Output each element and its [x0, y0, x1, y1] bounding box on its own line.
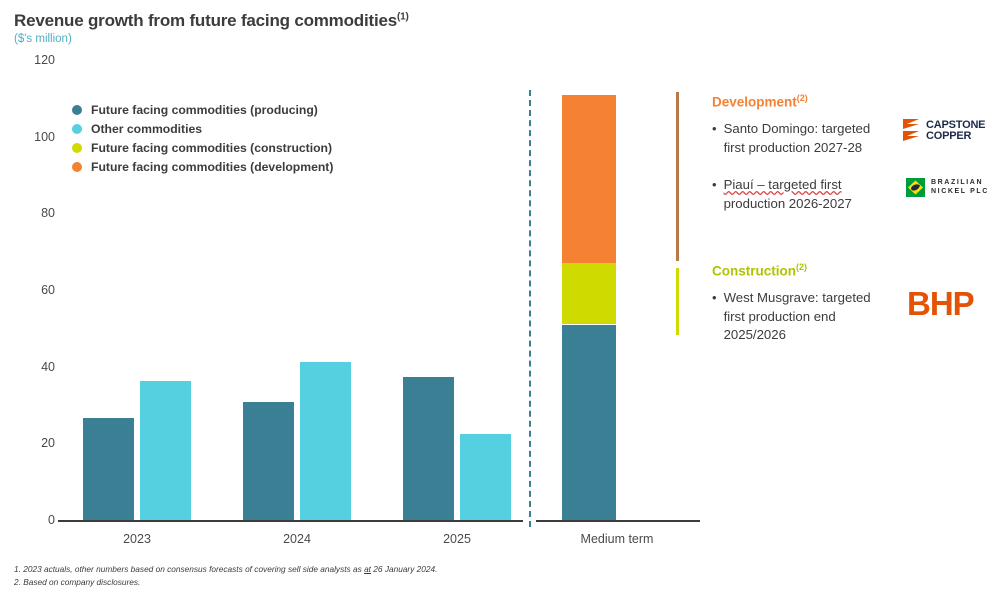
legend-item-other: Other commodities: [72, 119, 333, 138]
x-axis-left: [58, 520, 523, 522]
bullet-line-1: Santo Domingo: targeted: [724, 121, 871, 136]
x-tick-2024: 2024: [283, 532, 311, 546]
bullet-santo-domingo-text: Santo Domingo: targeted first production…: [724, 120, 871, 157]
capstone-copper-logo: CAPSTONE COPPER: [901, 118, 985, 144]
bullet-west-musgrave-text: West Musgrave: targeted first production…: [724, 289, 871, 345]
legend-label-other: Other commodities: [91, 122, 202, 136]
bullet-piaui-text: Piauí – targeted first production 2026-2…: [724, 176, 852, 213]
section-heading-development-footnote-ref: (2): [797, 93, 808, 103]
bullet-dot-icon: •: [712, 289, 717, 345]
section-heading-construction-text: Construction: [712, 264, 796, 279]
bar-medium-development: [562, 95, 616, 264]
y-tick-100: 100: [15, 130, 55, 144]
section-heading-development: Development(2): [712, 93, 808, 110]
page-title-footnote-ref: (1): [397, 11, 409, 22]
page-title-text: Revenue growth from future facing commod…: [14, 11, 397, 30]
bullet-line-2: first production 2027-28: [724, 140, 863, 155]
legend-label-construction: Future facing commodities (construction): [91, 141, 332, 155]
bullet-line-1: Piauí – targeted first: [724, 177, 842, 192]
bullet-line-2: first production end: [724, 309, 836, 324]
capstone-logo-line-2: COPPER: [926, 131, 985, 142]
footnote-2-pre: 2. Based on company disclosures.: [14, 577, 140, 587]
bhp-logo: BHP: [907, 285, 974, 323]
bullet-line-2: production 2026-2027: [724, 196, 852, 211]
brazilian-nickel-logo-line-1: BRAZILIAN: [931, 179, 989, 187]
bar-2025-other: [460, 434, 511, 520]
bar-2025-producing: [403, 377, 454, 520]
brazilian-nickel-logo: BRAZILIAN NICKEL PLC: [906, 178, 989, 197]
y-tick-120: 120: [15, 53, 55, 67]
legend-item-construction: Future facing commodities (construction): [72, 138, 333, 157]
y-tick-80: 80: [15, 206, 55, 220]
bullet-line-3: 2025/2026: [724, 327, 786, 342]
chart-units-subtitle: ($'s million): [14, 33, 72, 45]
bar-2023-producing: [83, 418, 134, 520]
section-heading-development-text: Development: [712, 95, 797, 110]
legend-label-producing: Future facing commodities (producing): [91, 103, 318, 117]
footnote-1: 1. 2023 actuals, other numbers based on …: [14, 563, 437, 576]
legend-dot-icon: [72, 143, 82, 153]
footnote-1-pre: 1. 2023 actuals, other numbers based on …: [14, 564, 364, 574]
footnote-1-underlined: at: [364, 564, 371, 574]
bullet-santo-domingo: • Santo Domingo: targeted first producti…: [712, 120, 912, 157]
bullet-dot-icon: •: [712, 120, 717, 157]
slide-root: Revenue growth from future facing commod…: [0, 0, 993, 590]
x-tick-2023: 2023: [123, 532, 151, 546]
bar-2024-producing: [243, 402, 294, 520]
bar-2023-other: [140, 381, 191, 521]
page-title: Revenue growth from future facing commod…: [14, 11, 409, 31]
forecast-divider: [529, 90, 531, 527]
x-axis-right: [536, 520, 700, 522]
y-tick-0: 0: [15, 513, 55, 527]
legend-dot-icon: [72, 124, 82, 134]
bullet-dot-icon: •: [712, 176, 717, 213]
legend-label-development: Future facing commodities (development): [91, 160, 333, 174]
bar-2024-other: [300, 362, 351, 520]
bar-medium-producing: [562, 325, 616, 521]
y-tick-40: 40: [15, 360, 55, 374]
y-tick-20: 20: [15, 436, 55, 450]
bullet-piaui: • Piauí – targeted first production 2026…: [712, 176, 912, 213]
x-tick-2025: 2025: [443, 532, 471, 546]
legend-item-development: Future facing commodities (development): [72, 157, 333, 176]
footnote-2: 2. Based on company disclosures.: [14, 576, 437, 589]
legend-item-producing: Future facing commodities (producing): [72, 100, 333, 119]
footnotes: 1. 2023 actuals, other numbers based on …: [14, 563, 437, 588]
legend-dot-icon: [72, 105, 82, 115]
bullet-line-1: West Musgrave: targeted: [724, 290, 871, 305]
section-heading-construction: Construction(2): [712, 262, 807, 279]
bullet-west-musgrave: • West Musgrave: targeted first producti…: [712, 289, 912, 345]
x-tick-medium-term: Medium term: [581, 532, 654, 546]
bar-medium-construction: [562, 263, 616, 324]
footnote-1-post: 26 January 2024.: [371, 564, 437, 574]
legend-dot-icon: [72, 162, 82, 172]
brazilian-nickel-logo-line-2: NICKEL PLC: [931, 188, 989, 196]
y-tick-60: 60: [15, 283, 55, 297]
capstone-chevron-icon: [901, 118, 923, 144]
section-heading-construction-footnote-ref: (2): [796, 262, 807, 272]
accent-bar-development: [676, 92, 679, 261]
chart-legend: Future facing commodities (producing) Ot…: [72, 100, 333, 176]
brazil-flag-icon: [906, 178, 925, 197]
accent-bar-construction: [676, 268, 679, 335]
